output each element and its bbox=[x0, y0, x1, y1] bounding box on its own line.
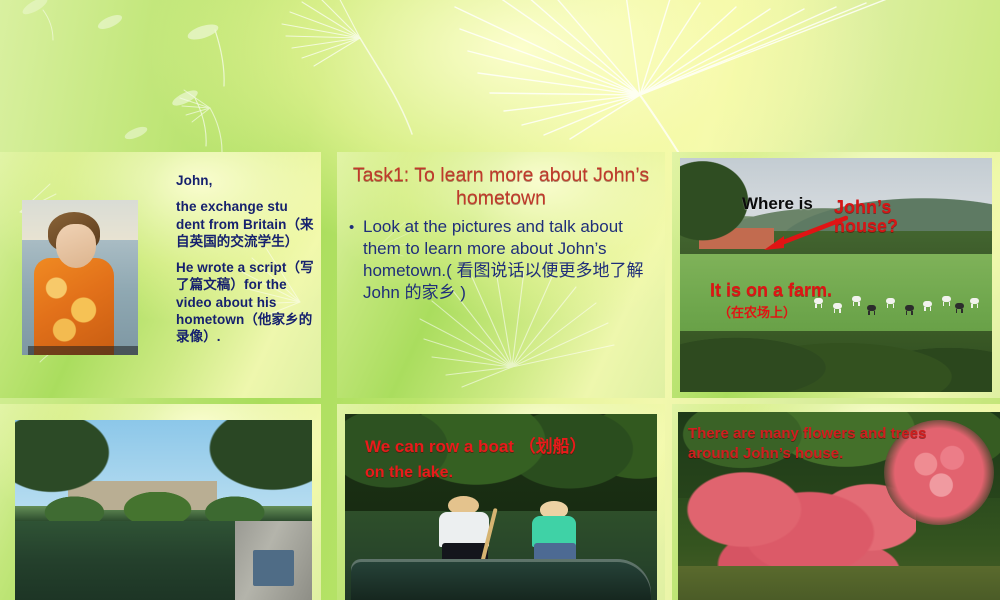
photo-goat bbox=[923, 301, 932, 307]
bullet-marker-icon: • bbox=[349, 218, 354, 238]
photo-watermark bbox=[28, 346, 138, 355]
farm-answer: It is on a farm. bbox=[710, 280, 832, 301]
photo-goat bbox=[942, 296, 951, 302]
photo-goat bbox=[970, 298, 979, 304]
farm-answer-cn: （在农场上） bbox=[718, 302, 796, 321]
photo-trash-bin bbox=[253, 550, 295, 586]
photo-goat bbox=[955, 303, 964, 309]
panel-john-intro: John, the exchange stu dent from Britain… bbox=[0, 152, 321, 398]
photo-park-lake bbox=[15, 420, 312, 600]
task1-bullet: • Look at the pictures and talk about th… bbox=[349, 216, 657, 304]
photo-face bbox=[56, 224, 96, 268]
john-line-2: the exchange stu dent from Britain（来自英国的… bbox=[176, 198, 314, 250]
task1-title: Task1: To learn more about John’s hometo… bbox=[347, 164, 655, 210]
boat-caption-line-2: on the lake. bbox=[365, 464, 453, 482]
john-line-1: John, bbox=[176, 172, 314, 189]
photo-ground bbox=[678, 566, 1000, 600]
photo-goat bbox=[833, 303, 842, 309]
dandelion-decoration bbox=[0, 0, 1000, 152]
panel-task1: Task1: To learn more about John’s hometo… bbox=[337, 152, 665, 398]
task1-bullet-text: Look at the pictures and talk about them… bbox=[363, 216, 657, 304]
john-description: John, the exchange stu dent from Britain… bbox=[176, 172, 314, 354]
farm-question-black: Where is bbox=[742, 194, 813, 214]
panel-boat: We can row a boat （划船） on the lake. bbox=[337, 404, 665, 600]
photo-goat bbox=[867, 305, 876, 311]
panel-flowers: There are many flowers and trees around … bbox=[672, 404, 1000, 600]
panel-lake bbox=[0, 404, 321, 600]
photo-goat bbox=[905, 305, 914, 311]
boat-caption-line-1: We can row a boat （划船） bbox=[365, 432, 587, 457]
photo-boat bbox=[351, 559, 651, 600]
photo-woman bbox=[532, 501, 576, 562]
john-line-3: He wrote a script（写了篇文稿）for the video ab… bbox=[176, 259, 314, 345]
photo-trees bbox=[345, 414, 657, 511]
farm-question-red: John’s house? bbox=[834, 198, 944, 237]
photo-jacket bbox=[34, 258, 114, 355]
photo-john bbox=[22, 200, 138, 355]
dandelion-seeds-icon bbox=[0, 0, 1000, 152]
presentation-slide: John, the exchange stu dent from Britain… bbox=[0, 0, 1000, 600]
panel-farm: Where is John’s house? It is on a farm. … bbox=[672, 152, 1000, 398]
photo-right-tree bbox=[199, 420, 312, 500]
flowers-caption: There are many flowers and trees around … bbox=[688, 424, 938, 464]
photo-goat bbox=[886, 298, 895, 304]
red-arrow-icon bbox=[762, 214, 848, 254]
photo-farm bbox=[680, 158, 992, 392]
photo-goat bbox=[852, 296, 861, 302]
photo-hedge bbox=[680, 331, 992, 392]
photo-left-tree bbox=[15, 420, 116, 499]
photo-man bbox=[439, 496, 489, 563]
